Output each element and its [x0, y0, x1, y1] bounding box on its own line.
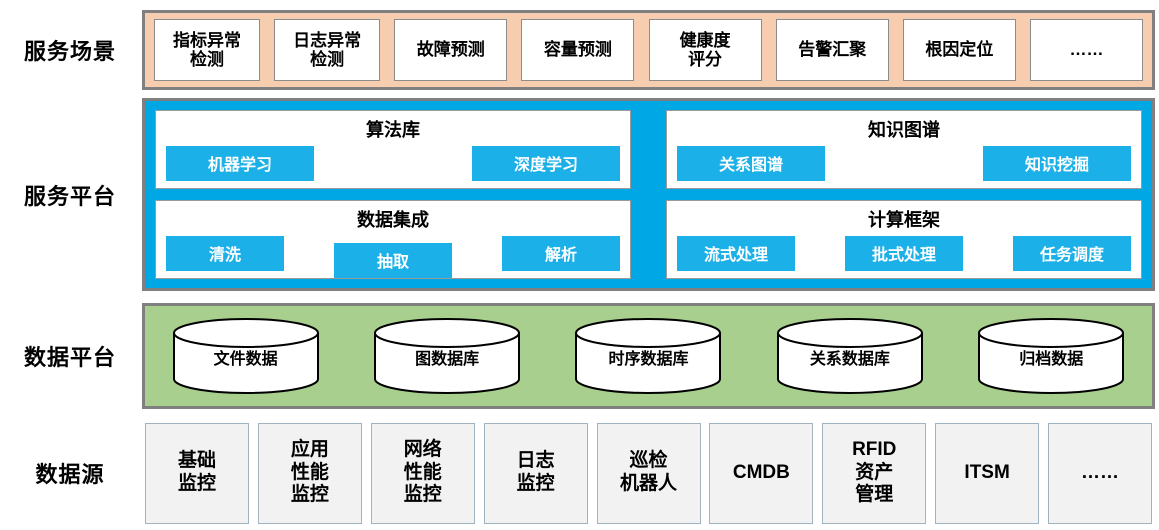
panel-algorithm-library: 算法库 机器学习 深度学习 [155, 110, 631, 189]
source-item-rfid-asset-management[interactable]: RFID 资产 管理 [822, 423, 926, 524]
scenario-item-health-score[interactable]: 健康度 评分 [649, 19, 762, 81]
scenario-item-fault-prediction[interactable]: 故障预测 [394, 19, 507, 81]
service-scenario-band: 指标异常 检测 日志异常 检测 故障预测 容量预测 健康度 评分 告警汇聚 根因… [142, 10, 1155, 90]
panel-title-algorithm-library: 算法库 [366, 116, 420, 142]
chip-task-scheduling[interactable]: 任务调度 [1013, 236, 1131, 271]
scenario-item-capacity-prediction[interactable]: 容量预测 [521, 19, 634, 81]
chip-relation-graph[interactable]: 关系图谱 [677, 146, 825, 181]
chip-cleansing[interactable]: 清洗 [166, 236, 284, 271]
panel-title-knowledge-graph: 知识图谱 [868, 116, 940, 142]
database-label: 归档数据 [977, 345, 1125, 369]
panel-title-computing-framework: 计算框架 [868, 206, 940, 232]
panel-knowledge-graph: 知识图谱 关系图谱 知识挖掘 [666, 110, 1142, 189]
row-label-data-source: 数据源 [0, 420, 140, 526]
source-item-inspection-robot[interactable]: 巡检 机器人 [597, 423, 701, 524]
database-label: 时序数据库 [574, 345, 722, 369]
row-label-service-scenario: 服务场景 [0, 10, 140, 90]
service-platform-band: 算法库 机器学习 深度学习 知识图谱 关系图谱 知识挖掘 数据集成 清洗 抽取 … [142, 98, 1155, 291]
source-item-itsm[interactable]: ITSM [935, 423, 1039, 524]
row-label-data-platform: 数据平台 [0, 303, 140, 409]
database-cylinder-graph-database[interactable]: 图数据库 [373, 317, 521, 395]
panel-data-integration: 数据集成 清洗 抽取 解析 [155, 200, 631, 279]
database-cylinder-timeseries-database[interactable]: 时序数据库 [574, 317, 722, 395]
source-item-application-performance-monitoring[interactable]: 应用 性能 监控 [258, 423, 362, 524]
chip-deep-learning[interactable]: 深度学习 [472, 146, 620, 181]
scenario-item-metric-anomaly-detection[interactable]: 指标异常 检测 [154, 19, 260, 81]
chip-batch-processing[interactable]: 批式处理 [845, 236, 963, 271]
chip-stream-processing[interactable]: 流式处理 [677, 236, 795, 271]
chip-knowledge-mining[interactable]: 知识挖掘 [983, 146, 1131, 181]
database-cylinder-archive-data[interactable]: 归档数据 [977, 317, 1125, 395]
scenario-item-root-cause-location[interactable]: 根因定位 [903, 19, 1016, 81]
data-platform-band: 文件数据 图数据库 时序数据库 关系数据库 [142, 303, 1155, 409]
source-item-network-performance-monitoring[interactable]: 网络 性能 监控 [371, 423, 475, 524]
database-cylinder-file-data[interactable]: 文件数据 [172, 317, 320, 395]
database-label: 文件数据 [172, 345, 320, 369]
data-source-band: 基础 监控 应用 性能 监控 网络 性能 监控 日志 监控 巡检 机器人 CMD… [142, 420, 1155, 526]
source-item-infrastructure-monitoring[interactable]: 基础 监控 [145, 423, 249, 524]
scenario-item-log-anomaly-detection[interactable]: 日志异常 检测 [274, 19, 380, 81]
architecture-diagram: 服务场景 服务平台 数据平台 数据源 指标异常 检测 日志异常 检测 故障预测 … [0, 0, 1159, 530]
database-label: 图数据库 [373, 345, 521, 369]
source-item-log-monitoring[interactable]: 日志 监控 [484, 423, 588, 524]
source-item-cmdb[interactable]: CMDB [709, 423, 813, 524]
database-label: 关系数据库 [776, 345, 924, 369]
database-cylinder-relational-database[interactable]: 关系数据库 [776, 317, 924, 395]
scenario-item-ellipsis: …… [1030, 19, 1143, 81]
chip-extraction[interactable]: 抽取 [334, 243, 452, 278]
row-label-service-platform: 服务平台 [0, 98, 140, 291]
chip-machine-learning[interactable]: 机器学习 [166, 146, 314, 181]
scenario-item-alarm-aggregation[interactable]: 告警汇聚 [776, 19, 889, 81]
source-item-ellipsis: …… [1048, 423, 1152, 524]
chip-parsing[interactable]: 解析 [502, 236, 620, 271]
panel-title-data-integration: 数据集成 [357, 206, 429, 232]
panel-computing-framework: 计算框架 流式处理 批式处理 任务调度 [666, 200, 1142, 279]
